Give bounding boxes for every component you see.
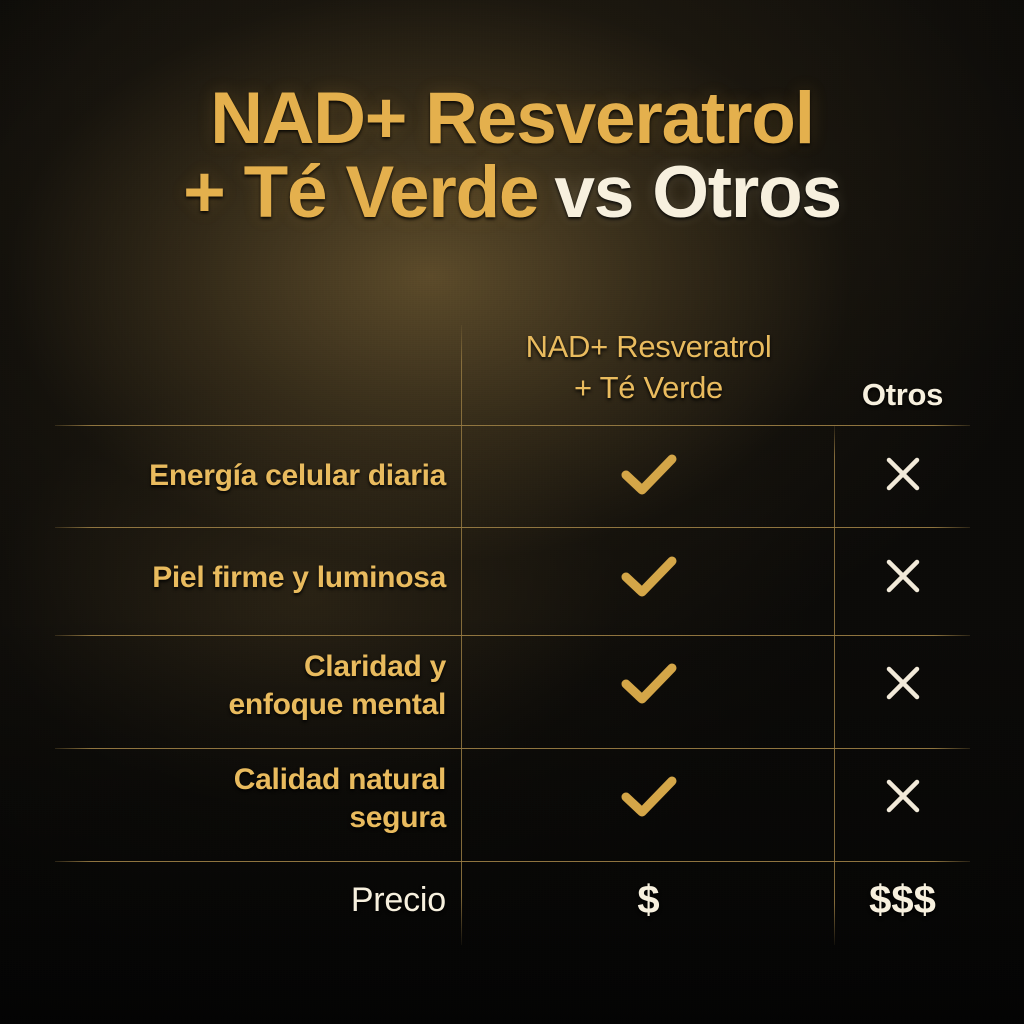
title-line-2-cream: vs Otros [554, 152, 841, 233]
page-title: NAD+ Resveratrol + Té Verdevs Otros [0, 82, 1024, 231]
cross-icon [881, 774, 925, 823]
price-value-others: $$$ [869, 878, 936, 923]
check-icon [619, 450, 679, 503]
feature-label-line-2: enfoque mental [229, 688, 447, 721]
table-cell-ours [462, 527, 835, 629]
table-cell-feature: Energía celular diaria [55, 425, 462, 527]
table-row: Piel firme y luminosa [55, 527, 970, 629]
price-value-ours: $ [637, 878, 659, 923]
feature-label: Energía celular diaria [149, 457, 446, 495]
table-row: Claridad y enfoque mental [55, 629, 970, 742]
feature-label-line-2: segura [349, 801, 446, 834]
table-header-ours-label: NAD+ Resveratrol + Té Verde [526, 327, 772, 409]
table-cell-others [835, 527, 970, 629]
table-header-ours-cell: NAD+ Resveratrol + Té Verde [462, 310, 835, 425]
comparison-infographic: NAD+ Resveratrol + Té Verdevs Otros NAD+… [0, 0, 1024, 1024]
comparison-table: NAD+ Resveratrol + Té Verde Otros Energí… [55, 310, 970, 945]
table-header-others-cell: Otros [835, 310, 970, 425]
cross-icon [881, 661, 925, 710]
table-header-ours-line-2: + Té Verde [574, 370, 723, 405]
title-line-1-gold: NAD+ Resveratrol [210, 78, 814, 159]
title-line-2: + Té Verdevs Otros [0, 156, 1024, 230]
table-cell-price-others: $$$ [835, 855, 970, 945]
table-cell-price-label: Precio [55, 855, 462, 945]
table-cell-price-ours: $ [462, 855, 835, 945]
check-icon [619, 552, 679, 605]
table-row: Calidad natural segura [55, 742, 970, 855]
check-icon [619, 659, 679, 712]
table-header-feature-cell [55, 310, 462, 425]
table-cell-feature: Claridad y enfoque mental [55, 629, 462, 742]
title-line-2-gold: + Té Verde [183, 152, 538, 233]
table-row: Energía celular diaria [55, 425, 970, 527]
table-header-others-label: Otros [862, 377, 943, 413]
feature-label: Piel firme y luminosa [152, 559, 446, 597]
table-cell-others [835, 742, 970, 855]
table-cell-feature: Piel firme y luminosa [55, 527, 462, 629]
title-line-1: NAD+ Resveratrol [0, 82, 1024, 156]
table-header-ours-line-1: NAD+ Resveratrol [526, 329, 772, 364]
cross-icon [881, 452, 925, 501]
table-cell-ours [462, 425, 835, 527]
table-cell-ours [462, 742, 835, 855]
table-cell-feature: Calidad natural segura [55, 742, 462, 855]
table-cell-ours [462, 629, 835, 742]
feature-label: Claridad y enfoque mental [229, 648, 447, 723]
table-row-price: Precio $ $$$ [55, 855, 970, 945]
feature-label-line-1: Calidad natural [234, 763, 446, 796]
price-label: Precio [351, 881, 446, 920]
cross-icon [881, 554, 925, 603]
check-icon [619, 772, 679, 825]
feature-label: Calidad natural segura [234, 761, 446, 836]
feature-label-line-1: Claridad y [304, 650, 446, 683]
table-header-row: NAD+ Resveratrol + Té Verde Otros [55, 310, 970, 425]
table-cell-others [835, 629, 970, 742]
feature-label-line-1: Piel firme y luminosa [152, 561, 446, 594]
table-cell-others [835, 425, 970, 527]
feature-label-line-1: Energía celular diaria [149, 459, 446, 492]
